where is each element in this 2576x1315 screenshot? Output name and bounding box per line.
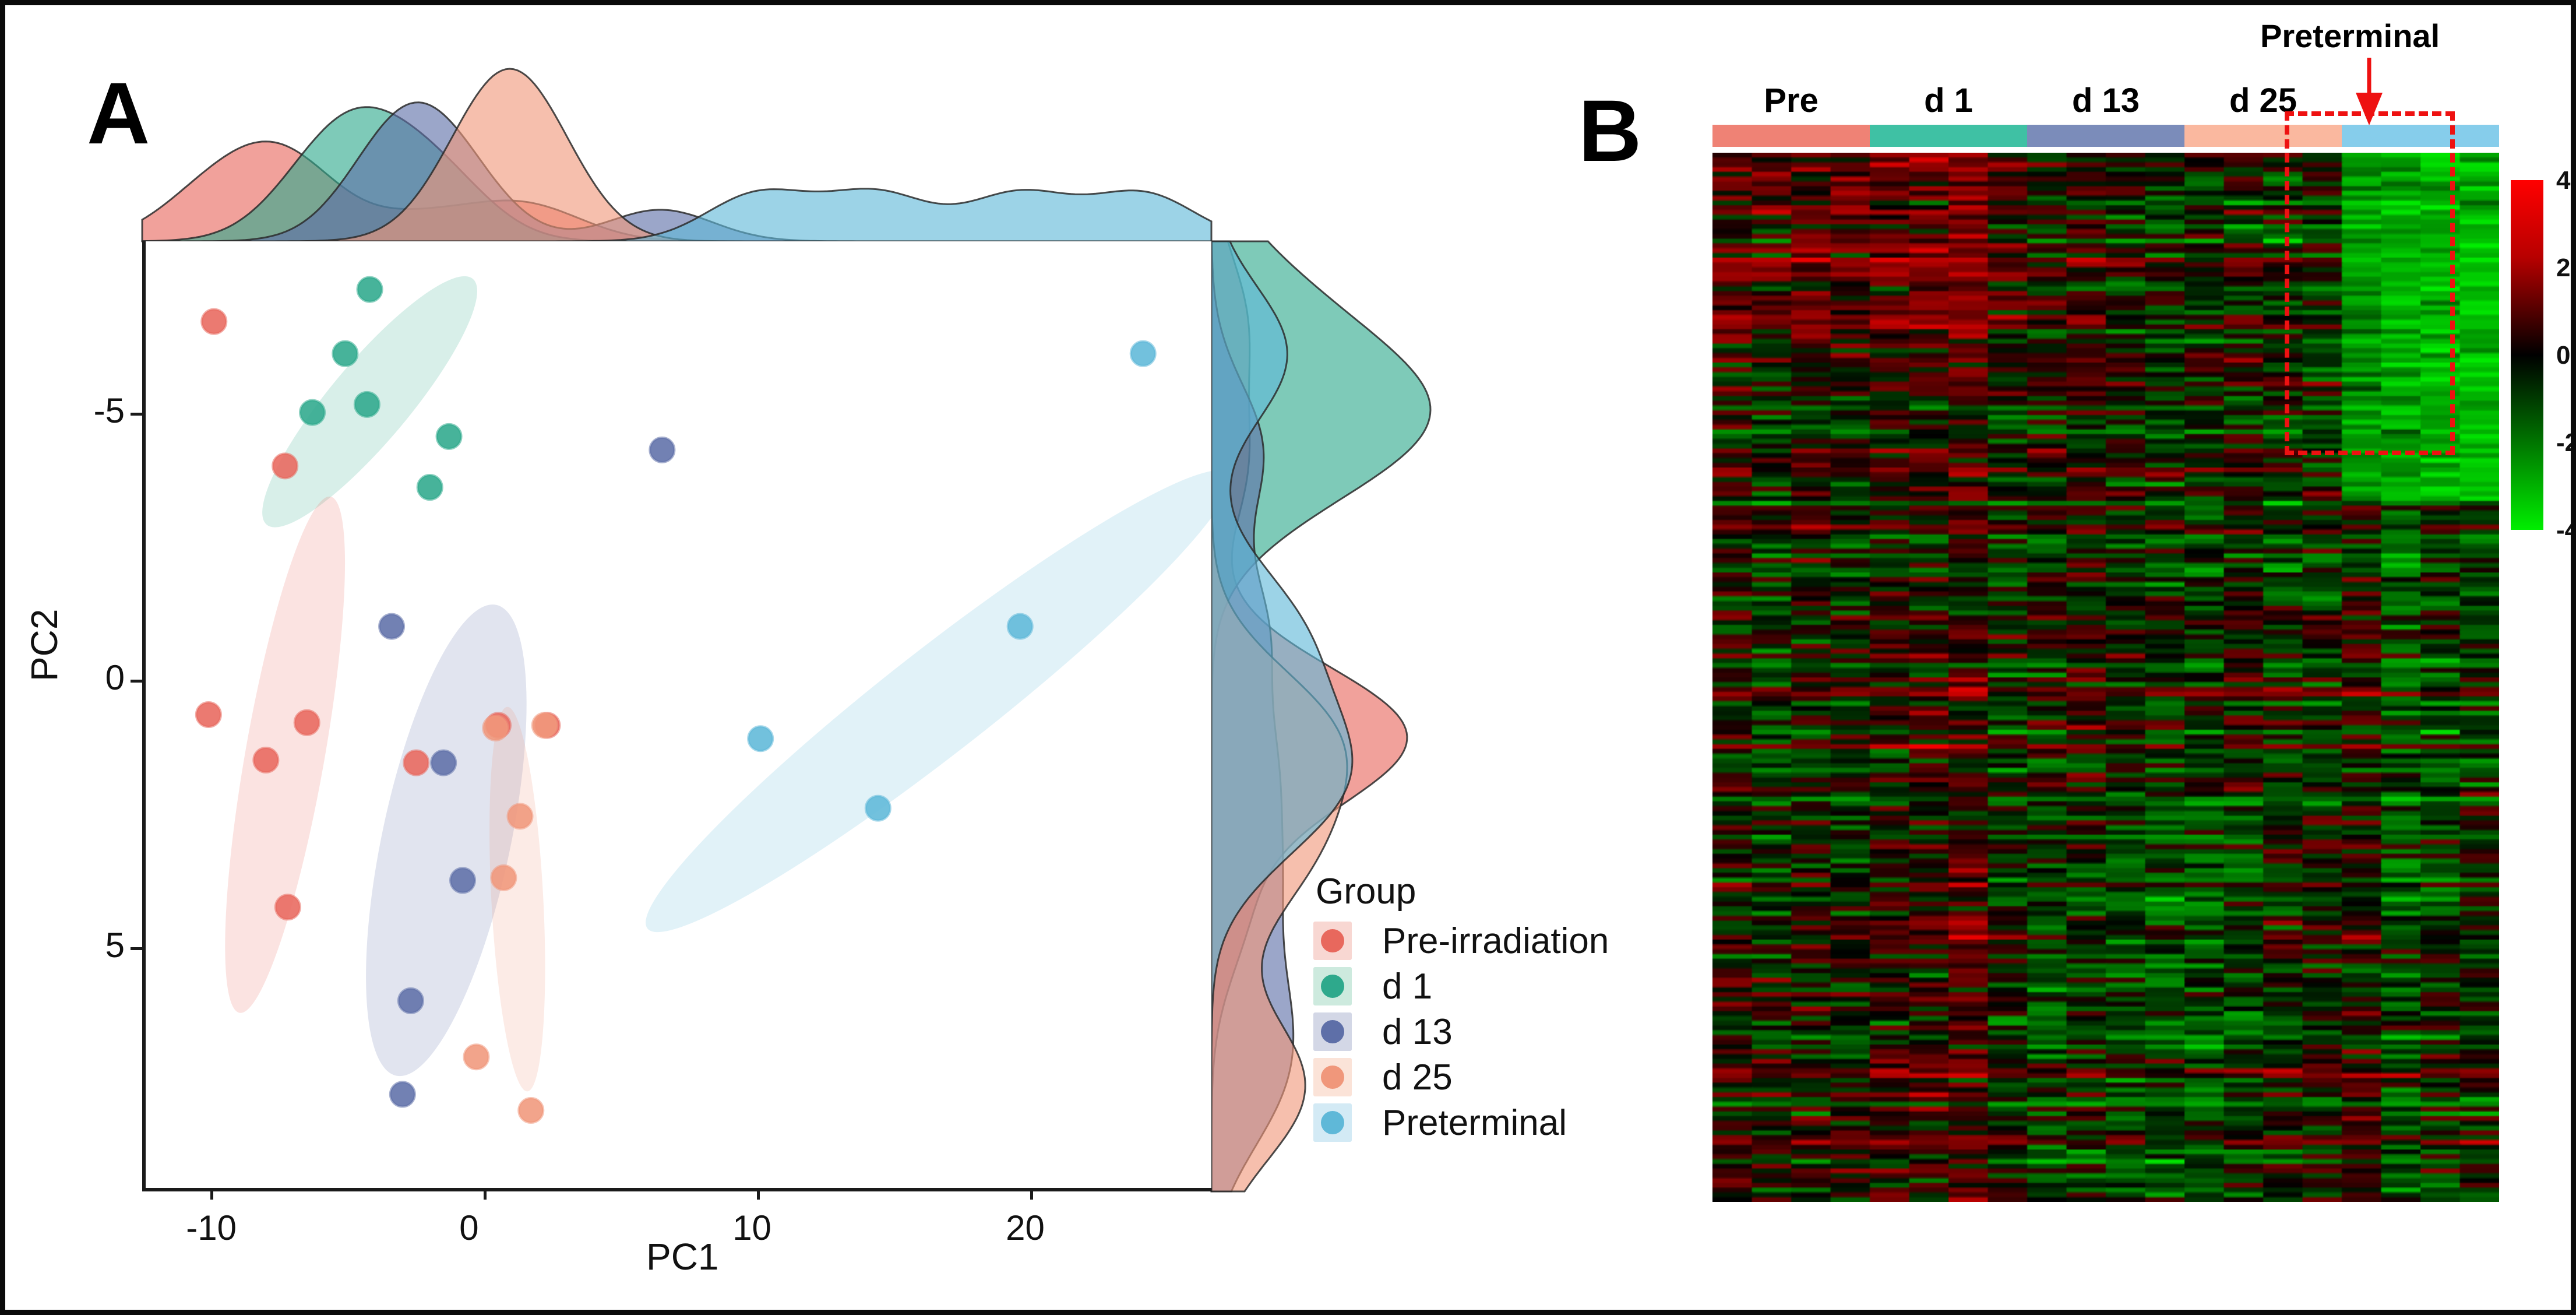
legend-swatch <box>1313 1012 1352 1051</box>
heatmap-group-color-chunk <box>2027 125 2184 147</box>
scatter-point <box>866 796 890 821</box>
legend-dot-icon <box>1321 1020 1344 1043</box>
heatmap-group-label: Pre <box>1712 81 1870 122</box>
legend-label: d 25 <box>1382 1057 1453 1098</box>
scatter-point <box>418 475 442 500</box>
scatter-point <box>1131 342 1155 366</box>
colorbar-tick-label: 2 <box>2556 254 2570 283</box>
scatter-point <box>399 989 423 1013</box>
colorbar-tick-label: -2 <box>2556 428 2576 458</box>
scatter-point <box>358 277 382 302</box>
y-tick <box>131 947 142 950</box>
x-tick-label: 20 <box>1006 1208 1045 1248</box>
scatter-point <box>379 614 404 639</box>
scatter-point <box>437 424 461 449</box>
y-tick <box>131 680 142 683</box>
scatter-point <box>196 702 221 727</box>
scatter-point <box>450 868 475 892</box>
legend-swatch <box>1313 922 1352 960</box>
legend-label: d 13 <box>1382 1011 1453 1053</box>
legend-item-d-13[interactable]: d 13 <box>1313 1009 1640 1054</box>
scatter-point <box>508 804 532 828</box>
legend-dot-icon <box>1321 975 1344 998</box>
legend-rows: Pre-irradiationd 1d 13d 25Preterminal <box>1313 918 1640 1145</box>
figure-root: A -100102050-5 PC1 PC2 Group Pre-irradia… <box>0 0 2576 1315</box>
scatter-point <box>491 866 516 890</box>
legend-dot-icon <box>1321 1111 1344 1134</box>
scatter-point <box>533 713 557 737</box>
legend-label: d 1 <box>1382 966 1432 1007</box>
y-tick-label: -5 <box>55 391 125 431</box>
scatter-point <box>253 748 278 772</box>
scatter-point <box>276 895 300 919</box>
y-axis-label: PC2 <box>23 609 66 682</box>
x-tick-label: 10 <box>732 1208 771 1248</box>
scatter-point <box>1008 614 1032 639</box>
preterminal-annotation-label: Preterminal <box>2260 17 2440 55</box>
confidence-ellipse <box>481 705 554 1092</box>
confidence-ellipse <box>615 433 1211 969</box>
legend-dot-icon <box>1321 1066 1344 1089</box>
legend-label: Pre-irradiation <box>1382 920 1609 962</box>
legend-label: Preterminal <box>1382 1102 1567 1144</box>
top-marginal-density <box>142 61 1211 241</box>
scatter-point <box>519 1098 543 1123</box>
legend-item-preterminal[interactable]: Preterminal <box>1313 1100 1640 1145</box>
x-tick-label: -10 <box>186 1208 237 1248</box>
colorbar-tick-label: 0 <box>2556 341 2570 370</box>
y-tick-label: 5 <box>55 925 125 965</box>
scatter-point <box>390 1082 415 1106</box>
scatter-point <box>748 726 773 751</box>
x-tick-label: 0 <box>459 1208 478 1248</box>
scatter-point <box>202 310 226 334</box>
panel-a-letter: A <box>87 69 150 157</box>
scatter-point <box>300 400 325 425</box>
scatter-canvas <box>146 241 1211 1188</box>
scatter-point <box>404 751 428 775</box>
panel-b-letter: B <box>1578 87 1641 174</box>
legend: Group Pre-irradiationd 1d 13d 25Pretermi… <box>1313 871 1640 1145</box>
legend-item-d-25[interactable]: d 25 <box>1313 1054 1640 1100</box>
legend-item-d-1[interactable]: d 1 <box>1313 964 1640 1009</box>
pca-scatter-plot <box>142 241 1211 1191</box>
legend-swatch <box>1313 967 1352 1005</box>
heatmap-group-color-chunk <box>1712 125 1870 147</box>
x-axis-label: PC1 <box>646 1235 719 1278</box>
scatter-point <box>464 1045 488 1069</box>
panel-b: B Preterminal Pred 1d 13d 25 420-2-4 <box>1654 5 2576 1315</box>
legend-swatch <box>1313 1058 1352 1096</box>
heatmap-colorbar <box>2511 180 2543 530</box>
legend-item-pre-irradiation[interactable]: Pre-irradiation <box>1313 918 1640 964</box>
legend-swatch <box>1313 1103 1352 1142</box>
confidence-ellipse <box>200 490 369 1019</box>
heatmap-group-color-chunk <box>1870 125 2027 147</box>
legend-title: Group <box>1316 871 1640 912</box>
preterminal-highlight-box <box>2285 111 2455 455</box>
colorbar-tick-label: 4 <box>2556 166 2570 195</box>
y-tick <box>131 413 142 416</box>
scatter-point <box>431 751 456 775</box>
heatmap-group-label: d 1 <box>1870 81 2027 122</box>
x-tick <box>484 1188 487 1200</box>
heatmap-group-label: d 13 <box>2027 81 2184 122</box>
x-tick <box>757 1188 760 1200</box>
x-tick <box>210 1188 213 1200</box>
scatter-point <box>273 453 297 478</box>
panel-a: A -100102050-5 PC1 PC2 Group Pre-irradia… <box>5 5 1654 1315</box>
legend-dot-icon <box>1321 929 1344 952</box>
scatter-point <box>333 342 357 366</box>
x-tick <box>1030 1188 1033 1200</box>
scatter-point <box>295 711 319 735</box>
scatter-point <box>650 438 674 462</box>
colorbar-tick-label: -4 <box>2556 516 2576 545</box>
scatter-point <box>355 392 379 417</box>
scatter-point <box>483 716 508 740</box>
